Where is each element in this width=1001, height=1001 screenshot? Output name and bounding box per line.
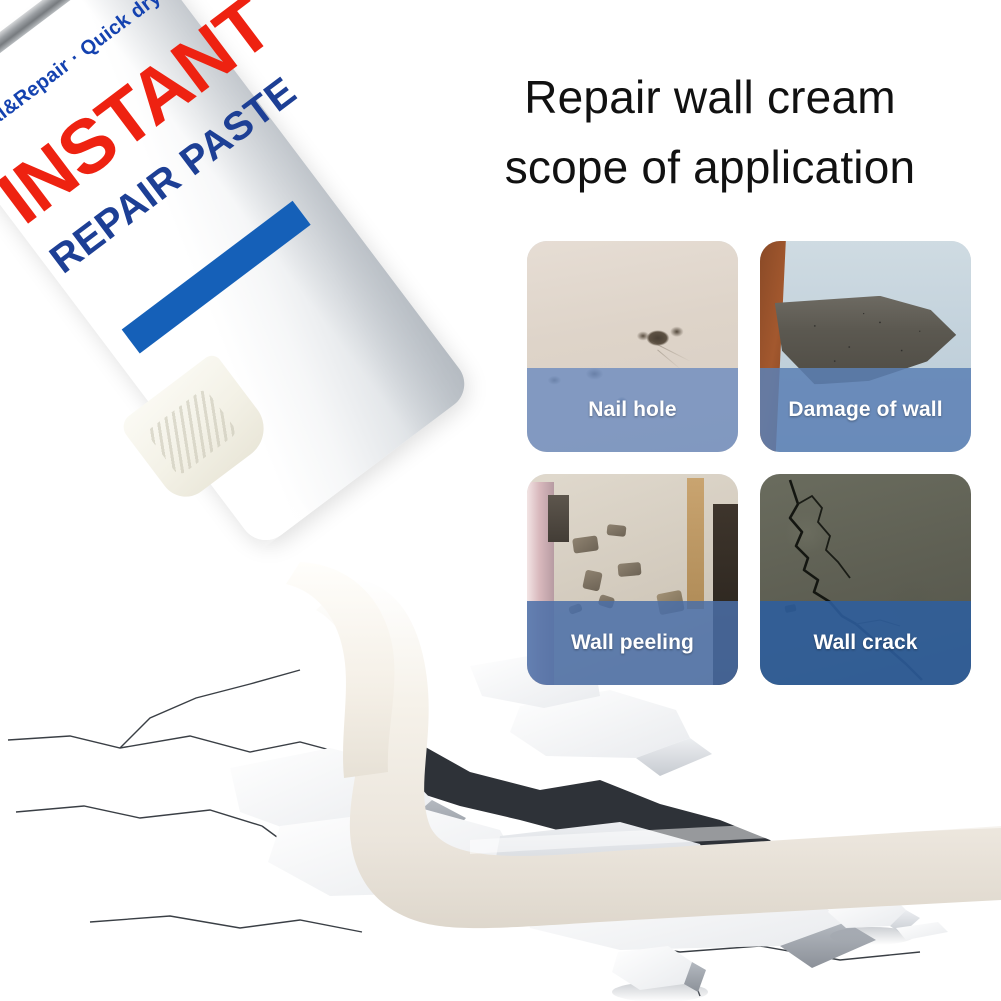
product-banner: Repair wall cream scope of application S… — [0, 0, 1001, 1001]
card-label-wall-crack: Wall crack — [813, 631, 917, 655]
tube-label: Seal&Repair · Quick dry INSTANT REPAIR P… — [0, 0, 475, 550]
plaster-flake — [617, 562, 641, 577]
wall-chip — [612, 946, 692, 990]
tube-highlight — [0, 61, 316, 550]
tube-shadow — [73, 0, 474, 438]
tube-body: Seal&Repair · Quick dry INSTANT REPAIR P… — [0, 0, 475, 550]
app-card-damage-of-wall[interactable]: Damage of wall — [760, 241, 971, 452]
wall-fragment — [470, 866, 552, 912]
card-label-damage-of-wall: Damage of wall — [788, 398, 942, 422]
card-label-nail-hole: Nail hole — [588, 398, 676, 422]
product-tube: Seal&Repair · Quick dry INSTANT REPAIR P… — [0, 0, 372, 664]
tube-crimp-seal — [0, 0, 144, 110]
plaster-flake — [582, 570, 602, 592]
nozzle-ribs — [145, 387, 238, 477]
headline-line-1: Repair wall cream — [430, 62, 990, 132]
tube-subtitle-text: REPAIR PASTE — [42, 92, 275, 283]
wall-fragment — [780, 922, 876, 968]
tube-surface — [0, 0, 475, 550]
wall-fragment — [636, 738, 712, 776]
wall-chip — [896, 922, 948, 940]
tube-nozzle — [118, 352, 276, 507]
card-label-bar: Nail hole — [527, 368, 738, 452]
wall-fragment — [398, 800, 466, 848]
card-label-bar: Wall peeling — [527, 601, 738, 685]
paste-highlight — [470, 814, 1001, 854]
crevice-shadow — [358, 744, 800, 884]
wall-corner — [548, 495, 569, 541]
tube-brand-text: INSTANT — [0, 19, 241, 237]
wall-chip — [890, 910, 920, 934]
wall-fragment — [494, 822, 716, 902]
card-label-wall-peeling: Wall peeling — [571, 631, 694, 655]
chip-shadow — [830, 927, 914, 945]
paste-neck-shape — [286, 562, 394, 778]
wall-fragment — [520, 872, 846, 950]
tube-tagline-text: Seal&Repair · Quick dry — [0, 0, 170, 146]
application-card-grid: Nail hole Damage of wall — [527, 241, 982, 696]
plaster-flake — [573, 536, 600, 554]
door-frame-wood — [687, 478, 704, 609]
chip-shadow — [612, 982, 708, 1001]
app-card-wall-crack[interactable]: Wall crack — [760, 474, 971, 685]
headline-line-2: scope of application — [430, 132, 990, 202]
app-card-wall-peeling[interactable]: Wall peeling — [527, 474, 738, 685]
wall-chip — [828, 894, 906, 928]
wall-fragment — [230, 748, 432, 836]
wall-chip — [684, 962, 706, 992]
wall-fragment — [510, 690, 690, 758]
hairline-cracks — [8, 670, 980, 996]
tube-blue-stripe — [122, 201, 311, 354]
app-card-nail-hole[interactable]: Nail hole — [527, 241, 738, 452]
plaster-flake — [607, 524, 627, 536]
wall-fragment — [268, 808, 520, 896]
card-label-bar: Damage of wall — [760, 368, 971, 452]
card-label-bar: Wall crack — [760, 601, 971, 685]
page-title: Repair wall cream scope of application — [430, 62, 990, 202]
